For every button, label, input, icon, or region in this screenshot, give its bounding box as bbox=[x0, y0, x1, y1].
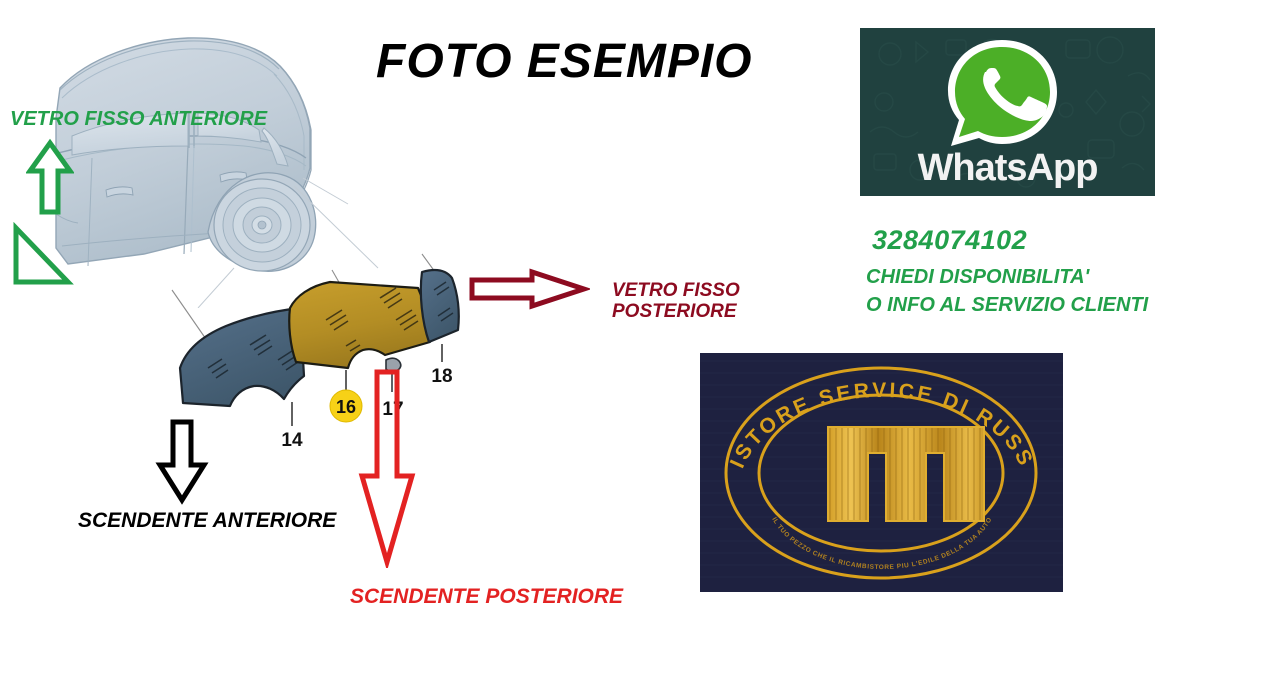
svg-text:18: 18 bbox=[431, 366, 452, 387]
label-vetro-fisso-posteriore: VETRO FISSO POSTERIORE bbox=[612, 280, 740, 323]
page-title: FOTO ESEMPIO bbox=[376, 34, 753, 89]
label-scendente-anteriore: SCENDENTE ANTERIORE bbox=[78, 509, 336, 533]
label-vetro-fisso-anteriore: VETRO FISSO ANTERIORE bbox=[10, 108, 267, 130]
foto-esempio-page: 14 16 17 bbox=[0, 0, 1264, 678]
label-scendente-posteriore: SCENDENTE POSTERIORE bbox=[350, 585, 623, 609]
triangle-outline-green-icon bbox=[8, 222, 74, 295]
contact-line-availability: CHIEDI DISPONIBILITA' bbox=[866, 266, 1089, 289]
down-arrow-black-icon bbox=[155, 417, 209, 510]
whatsapp-wordmark: WhatsApp bbox=[860, 148, 1155, 188]
contact-line-customer-service: O INFO AL SERVIZIO CLIENTI bbox=[866, 294, 1148, 317]
label-vetro-fisso-posteriore-line2: POSTERIORE bbox=[612, 301, 740, 322]
whatsapp-phone-icon bbox=[940, 34, 1065, 152]
svg-text:16: 16 bbox=[336, 397, 356, 417]
down-arrow-red-icon bbox=[358, 368, 416, 573]
label-vetro-fisso-posteriore-line1: VETRO FISSO bbox=[612, 280, 740, 301]
shop-logo-photo: MRICAMBISTORE SERVICE DI RUSSO MARCO IL … bbox=[700, 353, 1063, 592]
right-arrow-dark-red-icon bbox=[468, 268, 590, 315]
svg-text:14: 14 bbox=[281, 430, 303, 450]
up-arrow-green-icon bbox=[26, 138, 74, 223]
phone-number: 3284074102 bbox=[872, 225, 1027, 256]
whatsapp-banner: WhatsApp bbox=[860, 28, 1155, 196]
